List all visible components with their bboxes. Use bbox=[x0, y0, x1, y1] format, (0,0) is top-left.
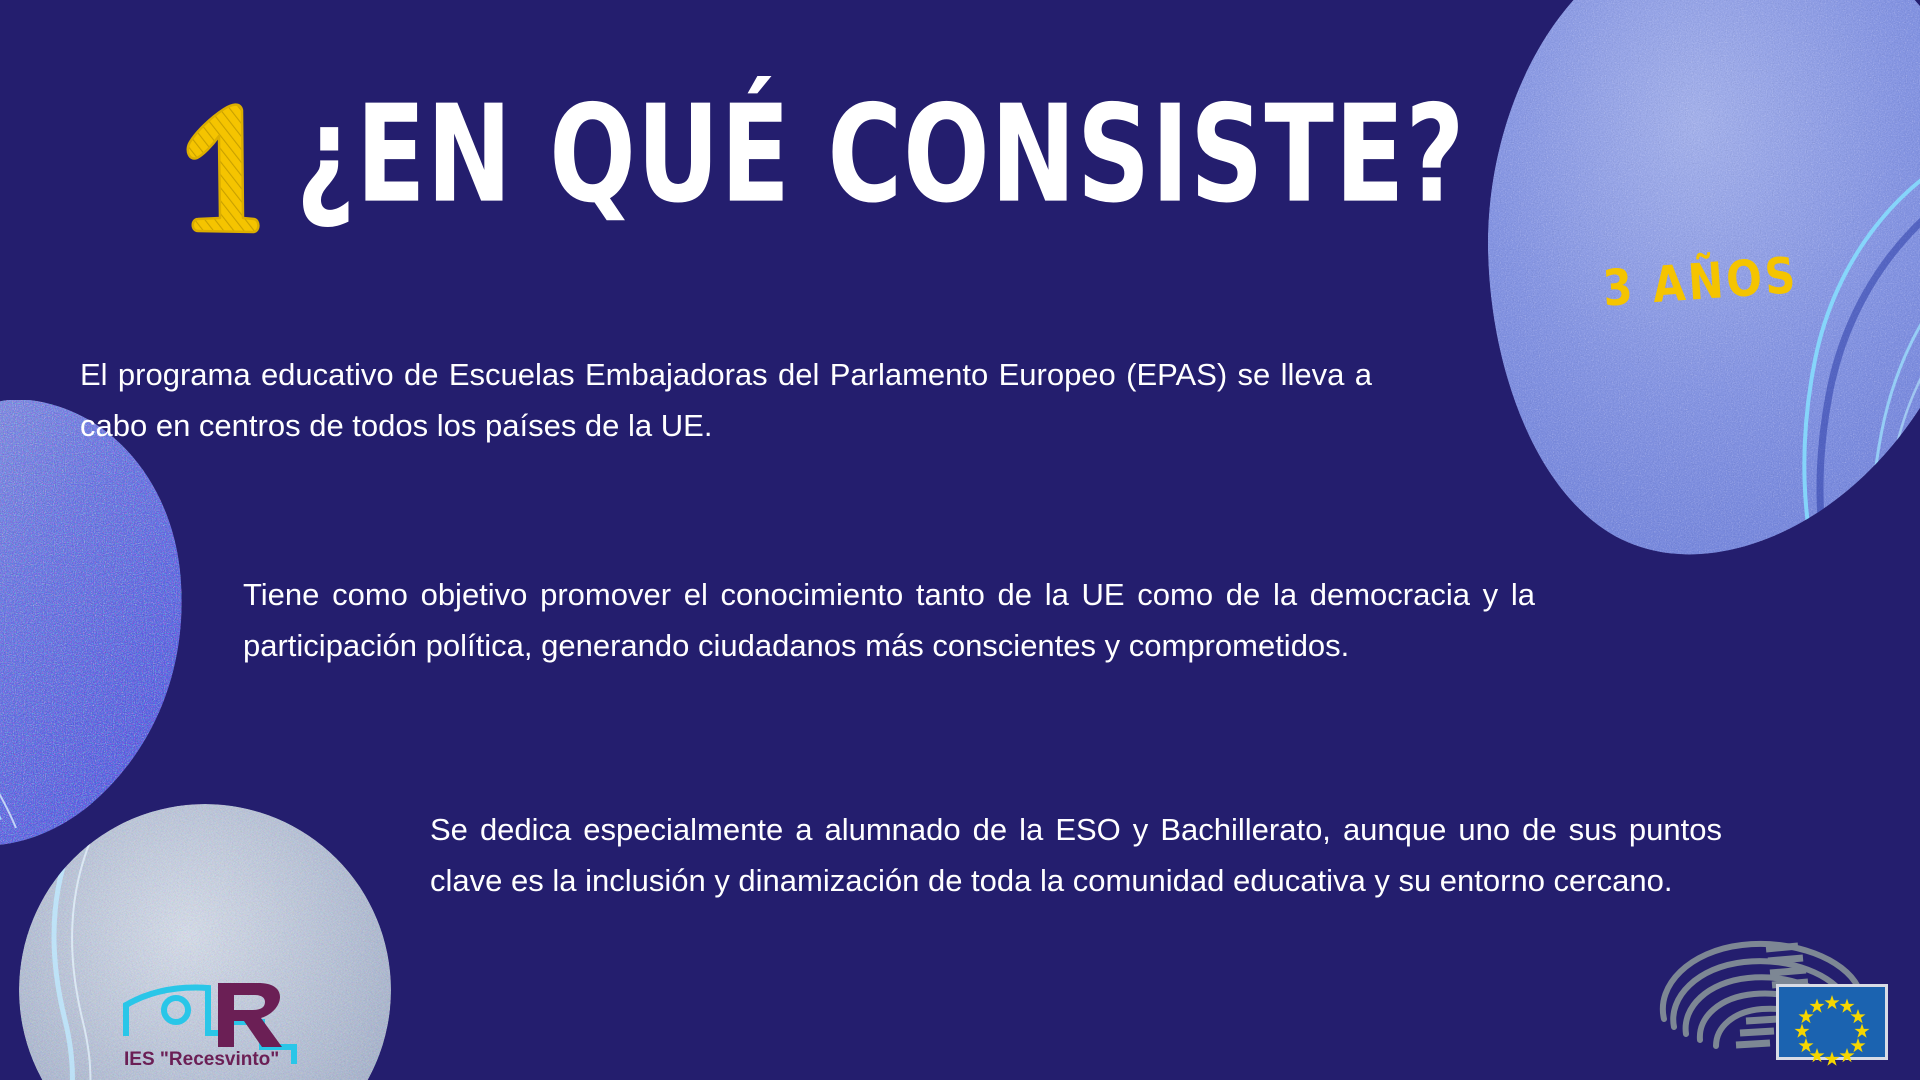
page-title: ¿EN QUÉ CONSISTE? bbox=[296, 88, 1465, 222]
years-badge: 3 AÑOS bbox=[1601, 246, 1800, 317]
paragraph-objective-text: Tiene como objetivo promover el conocimi… bbox=[243, 570, 1535, 671]
textured-blob-bottom-left-upper bbox=[0, 400, 260, 860]
slide-canvas: ¿EN QUÉ CONSISTE? 3 AÑOS El programa edu… bbox=[0, 0, 1920, 1080]
european-parliament-logo bbox=[1648, 935, 1898, 1070]
paragraph-intro: El programa educativo de Escuelas Embaja… bbox=[80, 350, 1372, 451]
paragraph-audience: Se dedica especialmente a alumnado de la… bbox=[430, 805, 1722, 906]
paragraph-intro-text: El programa educativo de Escuelas Embaja… bbox=[80, 350, 1372, 451]
slide-number-one bbox=[170, 98, 262, 248]
paragraph-objective: Tiene como objetivo promover el conocimi… bbox=[243, 570, 1535, 671]
logo-letter-r bbox=[218, 983, 282, 1047]
slide-title-row: ¿EN QUÉ CONSISTE? bbox=[170, 88, 1502, 248]
logo-circle bbox=[164, 998, 188, 1022]
paragraph-audience-text: Se dedica especialmente a alumnado de la… bbox=[430, 805, 1722, 906]
eu-flag-icon bbox=[1776, 984, 1888, 1066]
ies-recesvinto-logo: IES "Recesvinto" bbox=[112, 975, 312, 1070]
logo-label: IES "Recesvinto" bbox=[124, 1049, 279, 1070]
